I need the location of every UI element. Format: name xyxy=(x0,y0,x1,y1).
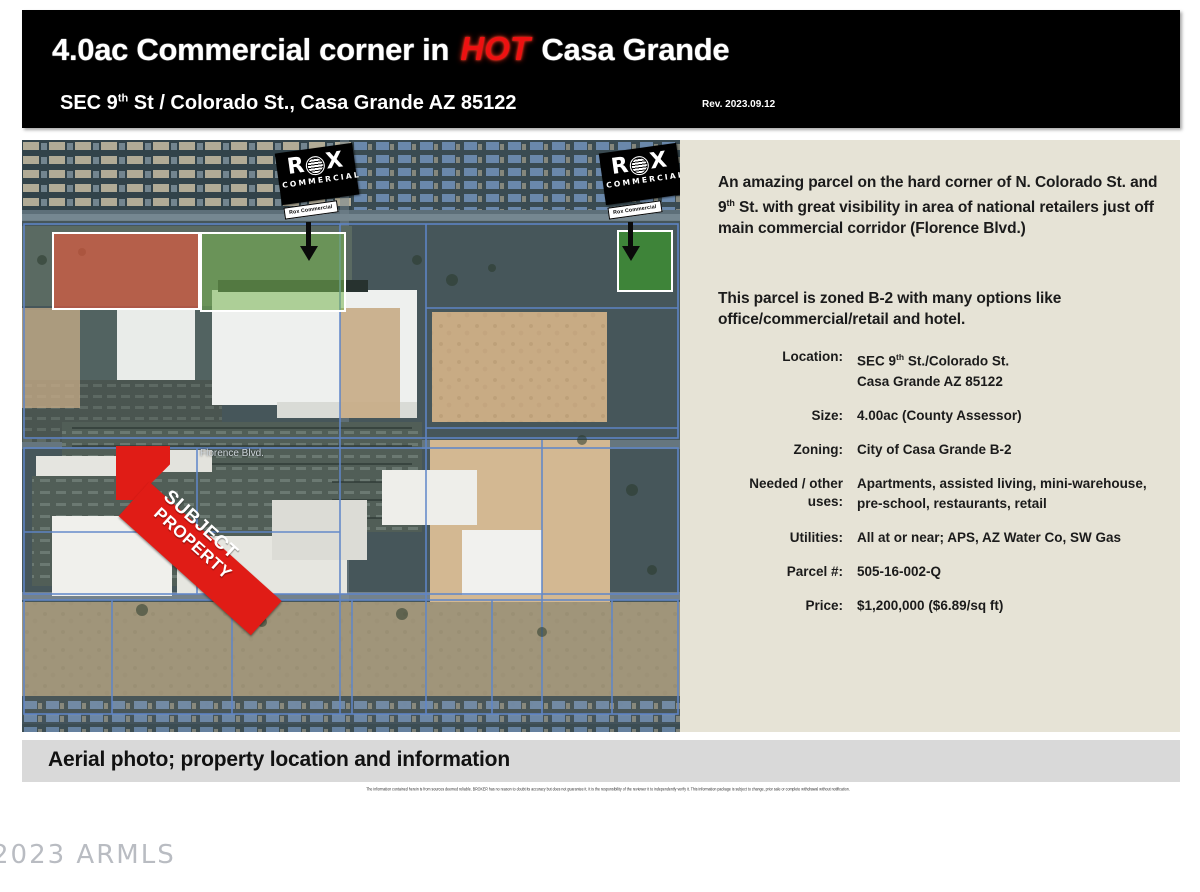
parcel-highlight-green xyxy=(200,232,346,312)
detail-label-location: Location: xyxy=(680,348,853,391)
subtitle-prefix: SEC 9 xyxy=(60,92,118,114)
description-paragraph-2: This parcel is zoned B-2 with many optio… xyxy=(718,288,1168,330)
arrow-point-2 xyxy=(622,246,640,261)
caption-text: Aerial photo; property location and info… xyxy=(48,748,510,772)
detail-value-size: 4.00ac (County Assessor) xyxy=(853,407,1180,425)
armls-watermark: 2023 ARMLS xyxy=(0,840,176,870)
detail-value-location: SEC 9th St./Colorado St. Casa Grande AZ … xyxy=(853,348,1180,391)
parcel-highlight-red xyxy=(52,232,200,310)
detail-label-parcel: Parcel #: xyxy=(680,563,853,581)
globe-icon xyxy=(629,154,650,175)
location-ordinal: th xyxy=(896,352,904,362)
aerial-photo-image xyxy=(22,140,680,732)
arrow-shaft-1 xyxy=(306,222,311,248)
needed-label-line-2: uses: xyxy=(680,493,843,511)
location-suffix: St./Colorado St. xyxy=(904,354,1009,369)
location-line-2: Casa Grande AZ 85122 xyxy=(857,373,1180,391)
page-subtitle: SEC 9th St / Colorado St., Casa Grande A… xyxy=(60,92,516,115)
detail-label-needed-uses: Needed / other uses: xyxy=(680,475,853,513)
flyer-page: 4.0ac Commercial corner in HOT Casa Gran… xyxy=(0,0,1200,892)
detail-label-zoning: Zoning: xyxy=(680,441,853,459)
location-prefix: SEC 9 xyxy=(857,354,896,369)
detail-value-needed-uses: Apartments, assisted living, mini-wareho… xyxy=(853,475,1180,513)
caption-bar: Aerial photo; property location and info… xyxy=(22,740,1180,782)
paragraph1-suffix: St. with great visibility in area of nat… xyxy=(718,199,1154,237)
info-panel: An amazing parcel on the hard corner of … xyxy=(680,140,1180,732)
property-details-table: Location: SEC 9th St./Colorado St. Casa … xyxy=(680,348,1180,631)
detail-label-size: Size: xyxy=(680,407,853,425)
needed-value-line-1: Apartments, assisted living, mini-wareho… xyxy=(857,475,1180,493)
globe-icon xyxy=(305,154,326,175)
rox-letter-x-1: X xyxy=(324,147,345,174)
detail-row-parcel: Parcel #: 505-16-002-Q xyxy=(680,563,1180,581)
disclaimer-text: The information contained herein is from… xyxy=(78,786,1138,793)
parcel-highlight-subject-green xyxy=(617,230,673,292)
rox-commercial-logo-2: RX COMMERCIAL xyxy=(599,143,680,205)
title-prefix: 4.0ac Commercial corner in xyxy=(52,32,457,67)
detail-value-price: $1,200,000 ($6.89/sq ft) xyxy=(853,597,1180,615)
detail-row-size: Size: 4.00ac (County Assessor) xyxy=(680,407,1180,425)
description-paragraph-1: An amazing parcel on the hard corner of … xyxy=(718,172,1168,239)
detail-row-zoning: Zoning: City of Casa Grande B-2 xyxy=(680,441,1180,459)
subtitle-ordinal: th xyxy=(118,92,128,104)
detail-value-zoning: City of Casa Grande B-2 xyxy=(853,441,1180,459)
detail-label-price: Price: xyxy=(680,597,853,615)
detail-value-parcel: 505-16-002-Q xyxy=(853,563,1180,581)
detail-row-utilities: Utilities: All at or near; APS, AZ Water… xyxy=(680,529,1180,547)
header-banner: 4.0ac Commercial corner in HOT Casa Gran… xyxy=(22,10,1180,128)
detail-label-utilities: Utilities: xyxy=(680,529,853,547)
detail-value-utilities: All at or near; APS, AZ Water Co, SW Gas xyxy=(853,529,1180,547)
location-line-1: SEC 9th St./Colorado St. xyxy=(857,348,1180,371)
page-title: 4.0ac Commercial corner in HOT Casa Gran… xyxy=(52,30,729,68)
rox-letter-r-1: R xyxy=(286,152,307,179)
needed-label-line-1: Needed / other xyxy=(680,475,843,493)
title-suffix: Casa Grande xyxy=(533,32,729,67)
street-label-florence-blvd: Florence Blvd. xyxy=(200,448,264,459)
detail-row-price: Price: $1,200,000 ($6.89/sq ft) xyxy=(680,597,1180,615)
detail-row-needed-uses: Needed / other uses: Apartments, assiste… xyxy=(680,475,1180,513)
paragraph1-ordinal: th xyxy=(727,198,735,208)
needed-value-line-2: pre-school, restaurants, retail xyxy=(857,495,1180,513)
rox-letter-x-2: X xyxy=(648,147,669,174)
aerial-map[interactable]: Florence Blvd. SUBJECT PROPERTY RX COMME… xyxy=(22,140,680,732)
rox-commercial-logo-1: RX COMMERCIAL xyxy=(275,143,359,205)
rox-letter-r-2: R xyxy=(610,152,631,179)
arrow-shaft-2 xyxy=(628,222,633,248)
revision-date: Rev. 2023.09.12 xyxy=(702,99,775,110)
arrow-point-1 xyxy=(300,246,318,261)
title-hot-word: HOT xyxy=(457,30,533,67)
detail-row-location: Location: SEC 9th St./Colorado St. Casa … xyxy=(680,348,1180,391)
subtitle-suffix: St / Colorado St., Casa Grande AZ 85122 xyxy=(128,92,516,114)
